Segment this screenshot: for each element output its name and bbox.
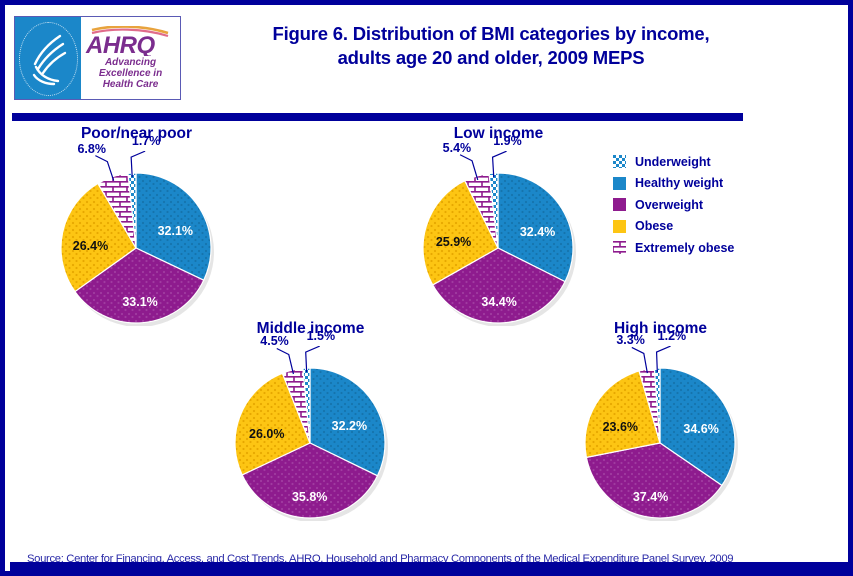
pie-slice-label: 26.4% <box>73 239 108 253</box>
pie-slice-label: 32.2% <box>332 419 367 433</box>
logo-tagline-3: Health Care <box>103 79 159 90</box>
figure-title-line-1: Figure 6. Distribution of BMI categories… <box>191 22 791 46</box>
pie-slice-label: 32.1% <box>158 224 193 238</box>
legend-item-underweight: Underweight <box>613 151 813 173</box>
svg-text:AHRQ: AHRQ <box>85 32 155 56</box>
pie-slice-label: 4.5% <box>260 334 289 348</box>
legend-item-healthy-weight: Healthy weight <box>613 173 813 195</box>
pie-slice-label: 1.2% <box>658 329 687 343</box>
figure-title: Figure 6. Distribution of BMI categories… <box>191 22 791 70</box>
legend-item-extremely-obese: Extremely obese <box>613 237 813 259</box>
ahrq-wordmark: AHRQ Advancing Excellence in Health Care <box>81 17 180 99</box>
legend-swatch-icon <box>613 177 626 190</box>
pie-slice-label: 23.6% <box>603 420 638 434</box>
legend-label: Underweight <box>635 155 711 169</box>
pie-canvas: 32.1%33.1%26.4%6.8%1.7% <box>29 151 244 326</box>
pie-slice-label: 3.3% <box>616 333 645 347</box>
pie-slice-label: 35.8% <box>292 490 327 504</box>
pie-chart-low-income: Low income <box>391 125 606 326</box>
legend-item-obese: Obese <box>613 216 813 238</box>
legend-label: Obese <box>635 219 673 233</box>
legend-swatch-icon <box>613 241 626 254</box>
pie-chart-middle-income: Middle income <box>203 320 418 521</box>
legend-swatch-icon <box>613 198 626 211</box>
legend-label: Healthy weight <box>635 176 723 190</box>
pie-slice-label: 1.9% <box>493 134 522 148</box>
hhs-seal-icon <box>15 17 81 99</box>
legend-swatch-icon <box>613 220 626 233</box>
slide-canvas: AHRQ Advancing Excellence in Health Care… <box>0 0 853 576</box>
pie-slice-label: 37.4% <box>633 490 668 504</box>
legend-item-overweight: Overweight <box>613 194 813 216</box>
pie-canvas: 34.6%37.4%23.6%3.3%1.2% <box>553 346 768 521</box>
pie-canvas: 32.2%35.8%26.0%4.5%1.5% <box>203 346 418 521</box>
legend-swatch-icon <box>613 155 626 168</box>
footer-divider <box>10 562 853 571</box>
pie-slice-label: 25.9% <box>436 235 471 249</box>
pie-slice-label: 33.1% <box>122 295 157 309</box>
chart-legend: Underweight Hea <box>613 151 813 259</box>
ahrq-hhs-logo: AHRQ Advancing Excellence in Health Care <box>14 16 181 100</box>
pie-slice-label: 34.4% <box>481 295 516 309</box>
pie-slice-label: 1.5% <box>307 329 336 343</box>
pie-slice-label: 34.6% <box>683 422 718 436</box>
pie-chart-high-income: High income <box>553 320 768 521</box>
header-divider <box>12 113 743 121</box>
pie-slice-label: 6.8% <box>77 142 106 156</box>
logo-tagline-2: Excellence in <box>99 68 162 79</box>
pie-slice-label: 1.7% <box>132 134 161 148</box>
figure-title-line-2: adults age 20 and older, 2009 MEPS <box>191 46 791 70</box>
logo-tagline-1: Advancing <box>105 57 156 68</box>
pie-chart-poor-near-poor: Poor/near poor <box>29 125 244 326</box>
ahrq-logo-icon: AHRQ <box>84 26 178 56</box>
pie-slice-label: 32.4% <box>520 225 555 239</box>
pie-canvas: 32.4%34.4%25.9%5.4%1.9% <box>391 151 606 326</box>
pie-slice-label: 26.0% <box>249 427 284 441</box>
legend-label: Extremely obese <box>635 241 734 255</box>
hhs-eagle-icon <box>26 31 71 87</box>
legend-label: Overweight <box>635 198 703 212</box>
pie-slice-label: 5.4% <box>443 141 472 155</box>
